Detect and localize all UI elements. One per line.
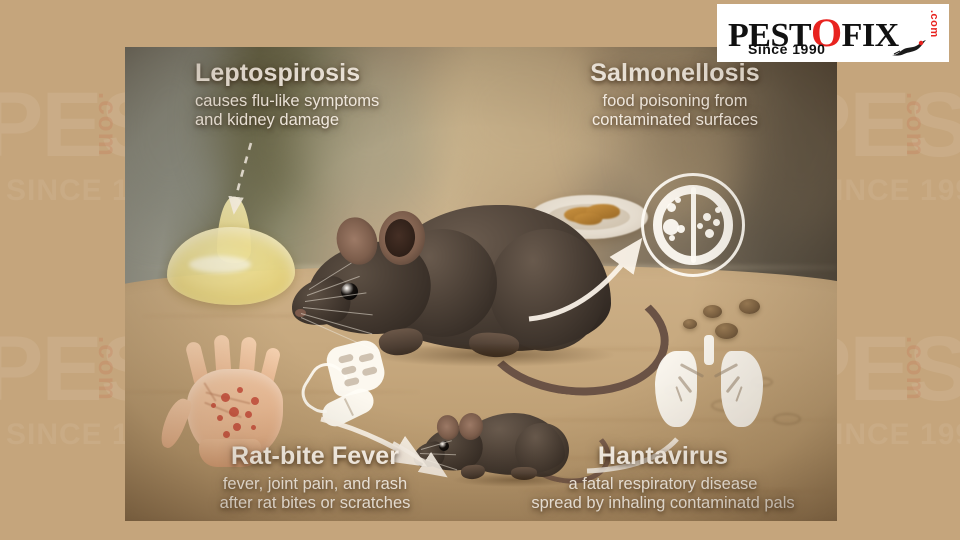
- rat-dropping: [703, 305, 722, 318]
- watermark-dotcom: .com: [92, 336, 123, 401]
- counter-smudge: [773, 413, 801, 425]
- rat-dropping: [683, 319, 697, 329]
- bacteria-petri-dish-icon: [641, 173, 745, 277]
- disease-block-salmonellosis: Salmonellosis food poisoning from contam…: [545, 59, 805, 130]
- disease-line: fever, joint pain, and rash: [165, 475, 465, 494]
- disease-title: Salmonellosis: [545, 59, 805, 89]
- lungs-icon: [653, 335, 765, 431]
- urine-droplet-icon: [167, 197, 295, 305]
- logo-domain: .com: [928, 10, 940, 38]
- disease-line: contaminated surfaces: [545, 111, 805, 130]
- pills-medication-icon: [303, 343, 389, 447]
- watermark-dotcom: .com: [92, 92, 123, 157]
- disease-line: and kidney damage: [195, 111, 379, 130]
- disease-title: Leptospirosis: [195, 59, 379, 89]
- disease-block-rat-bite-fever: Rat-bite Fever fever, joint pain, and ra…: [165, 442, 465, 513]
- disease-line: a fatal respiratory disease: [503, 475, 823, 494]
- rat-eye: [341, 283, 358, 300]
- logo-part-p: P: [728, 17, 748, 54]
- disease-line: after rat bites or scratches: [165, 494, 465, 513]
- logo-rat-mark-icon: [890, 37, 930, 57]
- disease-title: Hantavirus: [503, 442, 823, 472]
- logo-tagline: Since 1990: [748, 41, 825, 57]
- disease-line: spread by inhaling contaminatd pals: [503, 494, 823, 513]
- disease-block-hantavirus: Hantavirus a fatal respiratory disease s…: [503, 442, 823, 513]
- disease-line: food poisoning from: [545, 92, 805, 111]
- disease-title: Rat-bite Fever: [165, 442, 465, 472]
- disease-block-leptospirosis: Leptospirosis causes flu-like symptoms a…: [195, 59, 379, 130]
- watermark-dotcom: .com: [900, 336, 931, 401]
- watermark-dotcom: .com: [900, 92, 931, 157]
- disease-line: causes flu-like symptoms: [195, 92, 379, 111]
- pestofix-logo[interactable]: PESTOFIX Since 1990 .com: [717, 4, 949, 62]
- rat-dropping: [739, 299, 760, 314]
- infographic-card: Leptospirosis causes flu-like symptoms a…: [125, 47, 837, 521]
